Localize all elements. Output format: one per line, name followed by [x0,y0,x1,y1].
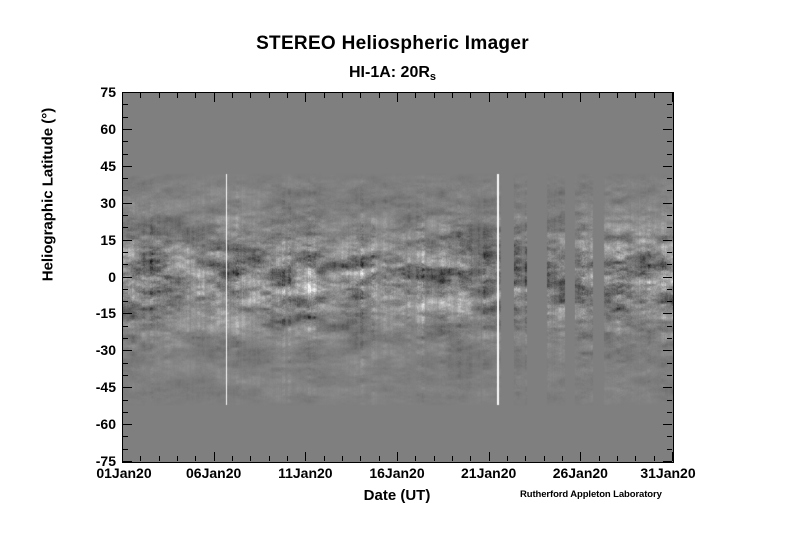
x-minor-tick-top [470,93,471,98]
x-major-tick [672,452,673,461]
y-minor-tick-right [667,436,672,437]
y-minor-tick [123,449,128,450]
x-tick-label: 06Jan20 [186,465,241,481]
y-major-tick-right [663,277,672,278]
page-title: STEREO Heliospheric Imager [0,33,785,55]
y-tick-label: -45 [76,379,116,395]
y-major-tick [123,313,132,314]
x-minor-tick-top [507,93,508,98]
y-major-tick-right [663,129,672,130]
y-minor-tick [123,412,128,413]
y-minor-tick [123,375,128,376]
x-minor-tick [360,456,361,461]
y-tick-label: 30 [76,195,116,211]
x-minor-tick-top [434,93,435,98]
y-tick-label: 15 [76,232,116,248]
x-major-tick [489,452,490,461]
y-major-tick [123,129,132,130]
y-minor-tick-right [667,178,672,179]
figure-root: STEREO Heliospheric Imager HI-1A: 20Rs H… [0,0,785,538]
x-minor-tick [342,456,343,461]
x-major-tick-top [397,93,398,102]
subtitle-subscript: s [430,71,436,83]
y-major-tick [123,166,132,167]
x-minor-tick-top [544,93,545,98]
x-tick-label: 11Jan20 [278,465,333,481]
x-major-tick-top [580,93,581,102]
x-minor-tick [470,456,471,461]
x-major-tick [580,452,581,461]
x-minor-tick-top [287,93,288,98]
x-minor-tick-top [324,93,325,98]
y-major-tick-right [663,350,672,351]
plot-area [122,92,674,463]
x-major-tick [122,452,123,461]
x-minor-tick-top [195,93,196,98]
x-major-tick-top [305,93,306,102]
y-minor-tick-right [667,141,672,142]
y-minor-tick-right [667,363,672,364]
y-minor-tick-right [667,104,672,105]
credit-text: Rutherford Appleton Laboratory [520,489,662,500]
x-major-tick [305,452,306,461]
x-minor-tick [177,456,178,461]
y-major-tick-right [663,424,672,425]
y-minor-tick-right [667,215,672,216]
x-axis-label: Date (UT) [272,487,522,504]
x-minor-tick [195,456,196,461]
y-major-tick [123,240,132,241]
x-minor-tick [415,456,416,461]
y-minor-tick [123,141,128,142]
jmap-heatmap-image [123,93,673,462]
y-minor-tick [123,190,128,191]
y-minor-tick [123,289,128,290]
x-major-tick-top [122,93,123,102]
x-minor-tick-top [635,93,636,98]
y-minor-tick-right [667,190,672,191]
x-minor-tick [140,456,141,461]
x-minor-tick-top [250,93,251,98]
x-minor-tick [452,456,453,461]
y-minor-tick [123,400,128,401]
x-minor-tick [525,456,526,461]
x-tick-label: 16Jan20 [369,465,424,481]
x-minor-tick [562,456,563,461]
x-minor-tick-top [360,93,361,98]
x-minor-tick [269,456,270,461]
x-minor-tick [232,456,233,461]
y-tick-label: 45 [76,158,116,174]
y-minor-tick-right [667,227,672,228]
y-minor-tick-right [667,264,672,265]
y-tick-label: 0 [76,269,116,285]
y-axis-tick-labels: 75604530150-15-30-45-60-75 [72,0,116,538]
x-minor-tick [654,456,655,461]
x-minor-tick-top [269,93,270,98]
x-minor-tick-top [562,93,563,98]
x-minor-tick [507,456,508,461]
y-minor-tick-right [667,400,672,401]
x-major-tick [397,452,398,461]
x-minor-tick-top [452,93,453,98]
y-major-tick-right [663,313,672,314]
y-minor-tick [123,301,128,302]
y-minor-tick-right [667,326,672,327]
y-major-tick [123,277,132,278]
y-major-tick-right [663,92,672,93]
x-minor-tick [379,456,380,461]
y-minor-tick [123,252,128,253]
y-minor-tick [123,215,128,216]
x-minor-tick [544,456,545,461]
x-minor-tick-top [342,93,343,98]
y-tick-label: 75 [76,84,116,100]
x-major-tick-top [489,93,490,102]
y-major-tick [123,424,132,425]
x-tick-label: 21Jan20 [461,465,516,481]
y-minor-tick [123,436,128,437]
y-major-tick [123,92,132,93]
y-minor-tick [123,338,128,339]
y-minor-tick [123,104,128,105]
x-minor-tick [250,456,251,461]
y-tick-label: -60 [76,416,116,432]
x-minor-tick [434,456,435,461]
x-tick-label: 26Jan20 [553,465,608,481]
y-major-tick [123,387,132,388]
y-major-tick [123,350,132,351]
y-minor-tick [123,227,128,228]
y-minor-tick-right [667,301,672,302]
x-minor-tick [599,456,600,461]
y-tick-label: -30 [76,342,116,358]
x-minor-tick [617,456,618,461]
y-minor-tick [123,154,128,155]
x-minor-tick [324,456,325,461]
y-major-tick [123,203,132,204]
x-minor-tick-top [232,93,233,98]
y-minor-tick-right [667,375,672,376]
y-minor-tick-right [667,154,672,155]
x-minor-tick [287,456,288,461]
y-major-tick-right [663,203,672,204]
y-minor-tick-right [667,289,672,290]
x-tick-label: 01Jan20 [96,465,151,481]
y-major-tick-right [663,240,672,241]
x-minor-tick-top [525,93,526,98]
x-major-tick-top [672,93,673,102]
y-major-tick [123,461,132,462]
x-minor-tick [159,456,160,461]
y-minor-tick [123,363,128,364]
y-minor-tick-right [667,252,672,253]
y-major-tick-right [663,166,672,167]
y-minor-tick-right [667,449,672,450]
y-minor-tick-right [667,412,672,413]
y-minor-tick [123,117,128,118]
x-minor-tick [635,456,636,461]
y-minor-tick [123,326,128,327]
x-major-tick-top [214,93,215,102]
y-minor-tick-right [667,117,672,118]
x-minor-tick-top [140,93,141,98]
x-minor-tick-top [599,93,600,98]
y-minor-tick [123,264,128,265]
x-tick-label: 31Jan20 [640,465,695,481]
y-axis-label: Heliographic Latitude (°) [40,30,57,360]
y-minor-tick [123,178,128,179]
x-minor-tick-top [177,93,178,98]
figure-subtitle: HI-1A: 20Rs [0,64,785,83]
y-major-tick-right [663,461,672,462]
y-minor-tick-right [667,338,672,339]
x-minor-tick-top [159,93,160,98]
subtitle-main: HI-1A: 20R [349,64,430,81]
x-minor-tick-top [654,93,655,98]
y-major-tick-right [663,387,672,388]
x-major-tick [214,452,215,461]
y-tick-label: 60 [76,121,116,137]
x-minor-tick-top [379,93,380,98]
x-minor-tick-top [617,93,618,98]
y-tick-label: -15 [76,305,116,321]
x-minor-tick-top [415,93,416,98]
